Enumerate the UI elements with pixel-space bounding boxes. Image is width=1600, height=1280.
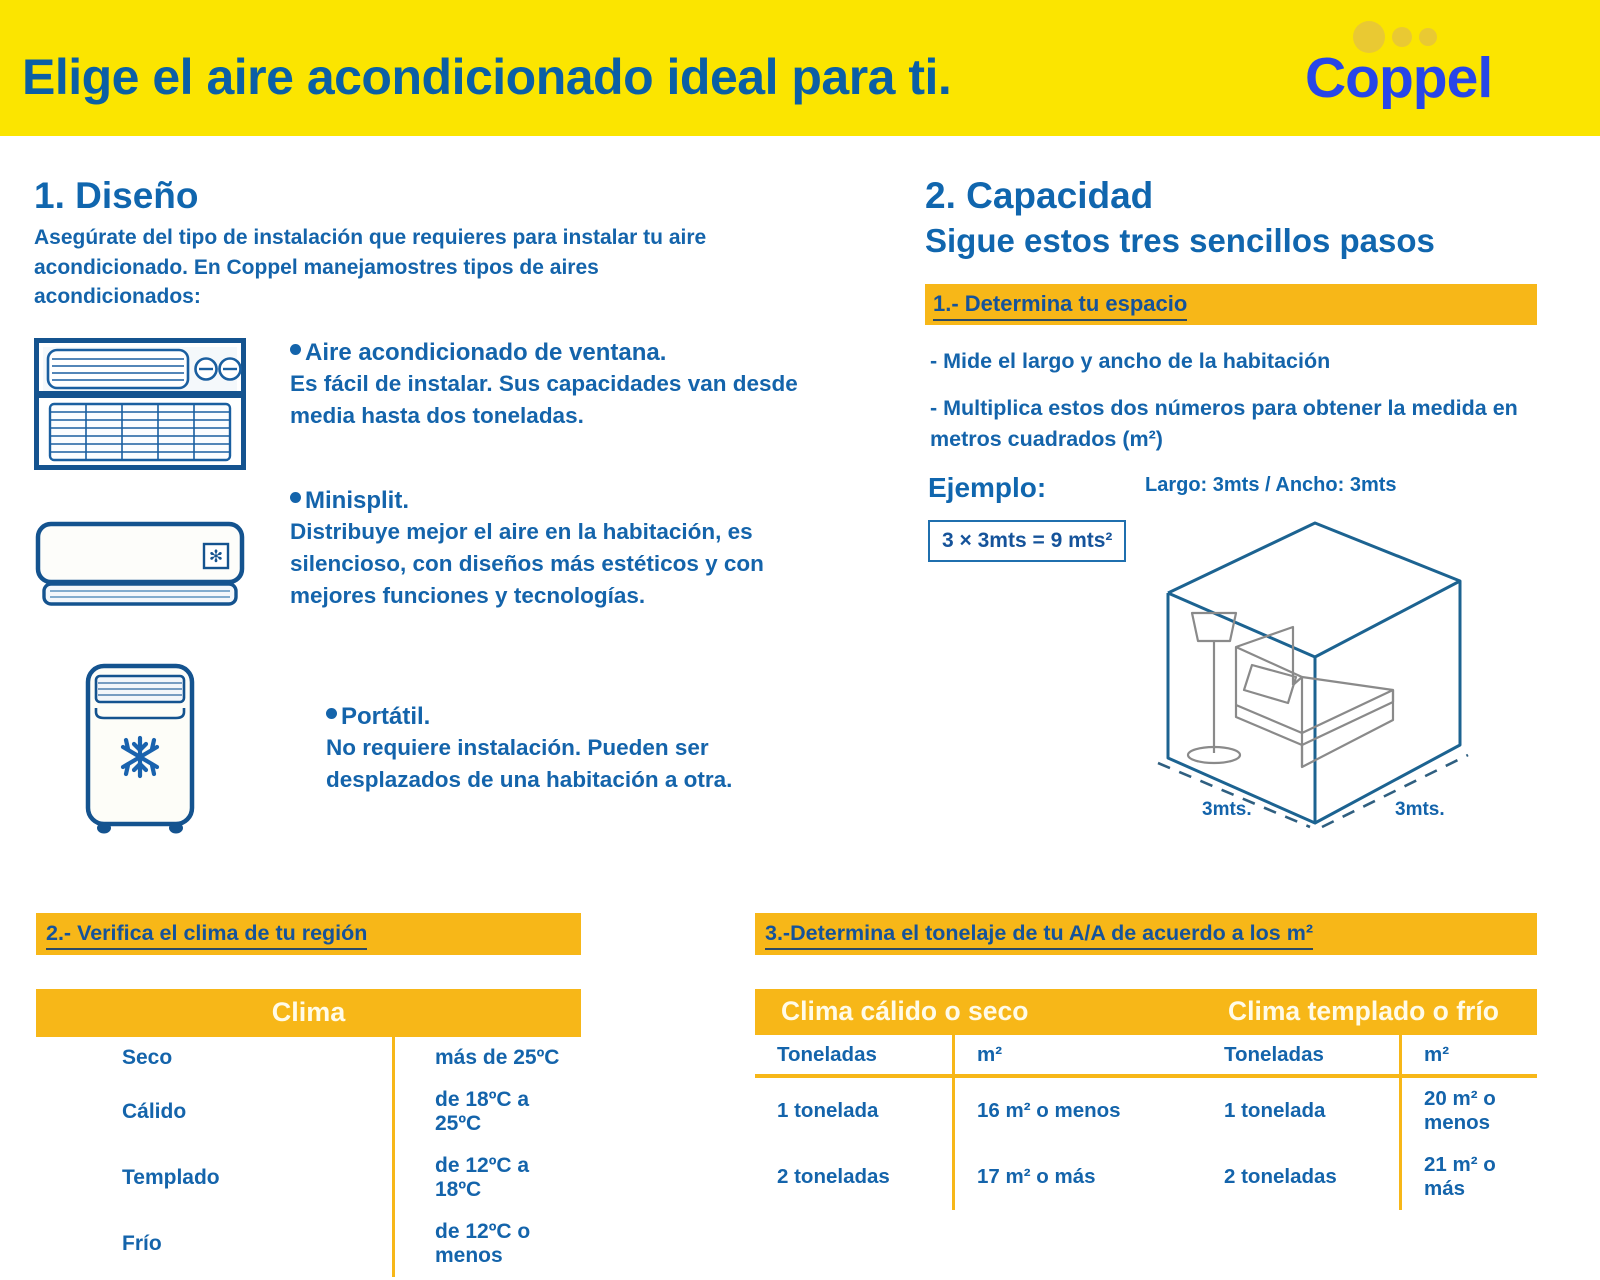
climate-table-body: Seco más de 25ºC Cálido de 18ºC a 25ºC T… bbox=[36, 1037, 581, 1277]
minisplit-ac-text: Minisplit. Distribuye mejor el aire en l… bbox=[290, 486, 834, 616]
logo-wordmark: Coppel bbox=[1305, 45, 1492, 111]
room-depth-label: 3mts. bbox=[1202, 799, 1252, 820]
climate-table-header: Clima bbox=[36, 989, 581, 1037]
subheader-toneladas-warm: Toneladas bbox=[755, 1035, 954, 1076]
room-dimensions-label: Largo: 3mts / Ancho: 3mts bbox=[1145, 474, 1397, 497]
svg-text:✻: ✻ bbox=[209, 547, 223, 567]
window-ac-icon bbox=[34, 338, 246, 470]
tonnage-group-header-row: Clima cálido o seco Clima templado o frí… bbox=[755, 989, 1537, 1035]
group-header-cool: Clima templado o frío bbox=[1202, 989, 1537, 1035]
portable-ac-desc: No requiere instalación. Pueden ser desp… bbox=[326, 732, 834, 796]
table-row: Frío de 12ºC o menos bbox=[36, 1211, 581, 1277]
climate-range: de 18ºC a 25ºC bbox=[394, 1079, 582, 1145]
minisplit-ac-desc: Distribuye mejor el aire en la habitació… bbox=[290, 516, 834, 612]
group-header-warm: Clima cálido o seco bbox=[755, 989, 1202, 1035]
table-row: 1 tonelada 16 m² o menos 1 tonelada 20 m… bbox=[755, 1076, 1537, 1144]
cell-toneladas-cool: 1 tonelada bbox=[1202, 1076, 1401, 1144]
step1-band: 1.- Determina tu espacio bbox=[925, 284, 1537, 325]
table-row: Seco más de 25ºC bbox=[36, 1037, 581, 1079]
step1-bullets: - Mide el largo y ancho de la habitación… bbox=[930, 330, 1540, 456]
cell-m2-cool: 21 m² o más bbox=[1401, 1144, 1538, 1210]
cell-toneladas-cool: 2 toneladas bbox=[1202, 1144, 1401, 1210]
window-ac-text: Aire acondicionado de ventana. Es fácil … bbox=[290, 338, 834, 470]
cell-m2-warm: 17 m² o más bbox=[954, 1144, 1203, 1210]
climate-range: más de 25ºC bbox=[394, 1037, 582, 1079]
step1-bullet-2: - Multiplica estos dos números para obte… bbox=[930, 393, 1540, 455]
table-row: Cálido de 18ºC a 25ºC bbox=[36, 1079, 581, 1145]
cell-toneladas-warm: 1 tonelada bbox=[755, 1076, 954, 1144]
coppel-logo: Coppel bbox=[1305, 18, 1525, 122]
calculation-box: 3 × 3mts = 9 mts² bbox=[928, 520, 1126, 562]
table-row: 2 toneladas 17 m² o más 2 toneladas 21 m… bbox=[755, 1144, 1537, 1210]
portable-ac-text: Portátil. No requiere instalación. Puede… bbox=[326, 702, 834, 840]
tonnage-table: Clima cálido o seco Clima templado o frí… bbox=[755, 989, 1537, 1210]
cell-m2-warm: 16 m² o menos bbox=[954, 1076, 1203, 1144]
tonnage-subheader-row: Toneladas m² Toneladas m² bbox=[755, 1035, 1537, 1076]
capacity-section: 2. Capacidad Sigue estos tres sencillos … bbox=[925, 176, 1545, 259]
climate-range: de 12ºC o menos bbox=[394, 1211, 582, 1277]
cell-m2-cool: 20 m² o menos bbox=[1401, 1076, 1538, 1144]
room-3d-diagram-svg: 3mts. 3mts. bbox=[1110, 505, 1510, 835]
room-3d-diagram: 3mts. 3mts. bbox=[1110, 505, 1510, 840]
window-ac-desc: Es fácil de instalar. Sus capacidades va… bbox=[290, 368, 834, 432]
tonnage-band-title: 3.-Determina el tonelaje de tu A/A de ac… bbox=[755, 913, 1537, 955]
bullet-dot-icon bbox=[326, 708, 337, 719]
climate-name: Cálido bbox=[36, 1079, 394, 1145]
minisplit-ac-icon-svg: ✻ bbox=[34, 516, 246, 616]
minisplit-ac-title: Minisplit. bbox=[290, 486, 834, 516]
cell-toneladas-warm: 2 toneladas bbox=[755, 1144, 954, 1210]
step1-bullet-1: - Mide el largo y ancho de la habitación bbox=[930, 346, 1540, 377]
page-title: Elige el aire acondicionado ideal para t… bbox=[22, 48, 951, 106]
subheader-toneladas-cool: Toneladas bbox=[1202, 1035, 1401, 1076]
climate-band-title: 2.- Verifica el clima de tu región bbox=[36, 913, 581, 955]
bullet-dot-icon bbox=[290, 492, 301, 503]
portable-ac-title: Portátil. bbox=[326, 702, 834, 732]
portable-ac-icon-svg bbox=[70, 660, 210, 840]
logo-dot-small-icon bbox=[1419, 28, 1437, 46]
subheader-m2-cool: m² bbox=[1401, 1035, 1538, 1076]
room-width-label: 3mts. bbox=[1395, 799, 1445, 820]
design-section: 1. Diseño Asegúrate del tipo de instalac… bbox=[34, 176, 854, 312]
climate-name: Seco bbox=[36, 1037, 394, 1079]
ac-type-minisplit: ✻ Minisplit. Distribuye mejor el aire en… bbox=[34, 490, 834, 616]
capacity-subheading: Sigue estos tres sencillos pasos bbox=[925, 223, 1545, 259]
ac-type-portable: Portátil. No requiere instalación. Puede… bbox=[34, 660, 834, 840]
logo-dot-medium-icon bbox=[1392, 27, 1412, 47]
climate-table: Clima Seco más de 25ºC Cálido de 18ºC a … bbox=[36, 989, 581, 1277]
ac-type-window: Aire acondicionado de ventana. Es fácil … bbox=[34, 338, 834, 470]
minisplit-ac-icon: ✻ bbox=[34, 490, 246, 616]
window-ac-icon-svg bbox=[34, 338, 246, 470]
portable-ac-icon bbox=[34, 660, 282, 840]
climate-name: Templado bbox=[36, 1145, 394, 1211]
tonnage-table-body: Clima cálido o seco Clima templado o frí… bbox=[755, 989, 1537, 1210]
capacity-heading: 2. Capacidad bbox=[925, 176, 1545, 217]
design-heading: 1. Diseño bbox=[34, 176, 854, 217]
example-label: Ejemplo: bbox=[928, 472, 1046, 504]
climate-name: Frío bbox=[36, 1211, 394, 1277]
table-row: Templado de 12ºC a 18ºC bbox=[36, 1145, 581, 1211]
page-header: Elige el aire acondicionado ideal para t… bbox=[0, 0, 1600, 136]
window-ac-title: Aire acondicionado de ventana. bbox=[290, 338, 834, 368]
climate-range: de 12ºC a 18ºC bbox=[394, 1145, 582, 1211]
bullet-dot-icon bbox=[290, 344, 301, 355]
design-intro-text: Asegúrate del tipo de instalación que re… bbox=[34, 223, 734, 312]
subheader-m2-warm: m² bbox=[954, 1035, 1203, 1076]
